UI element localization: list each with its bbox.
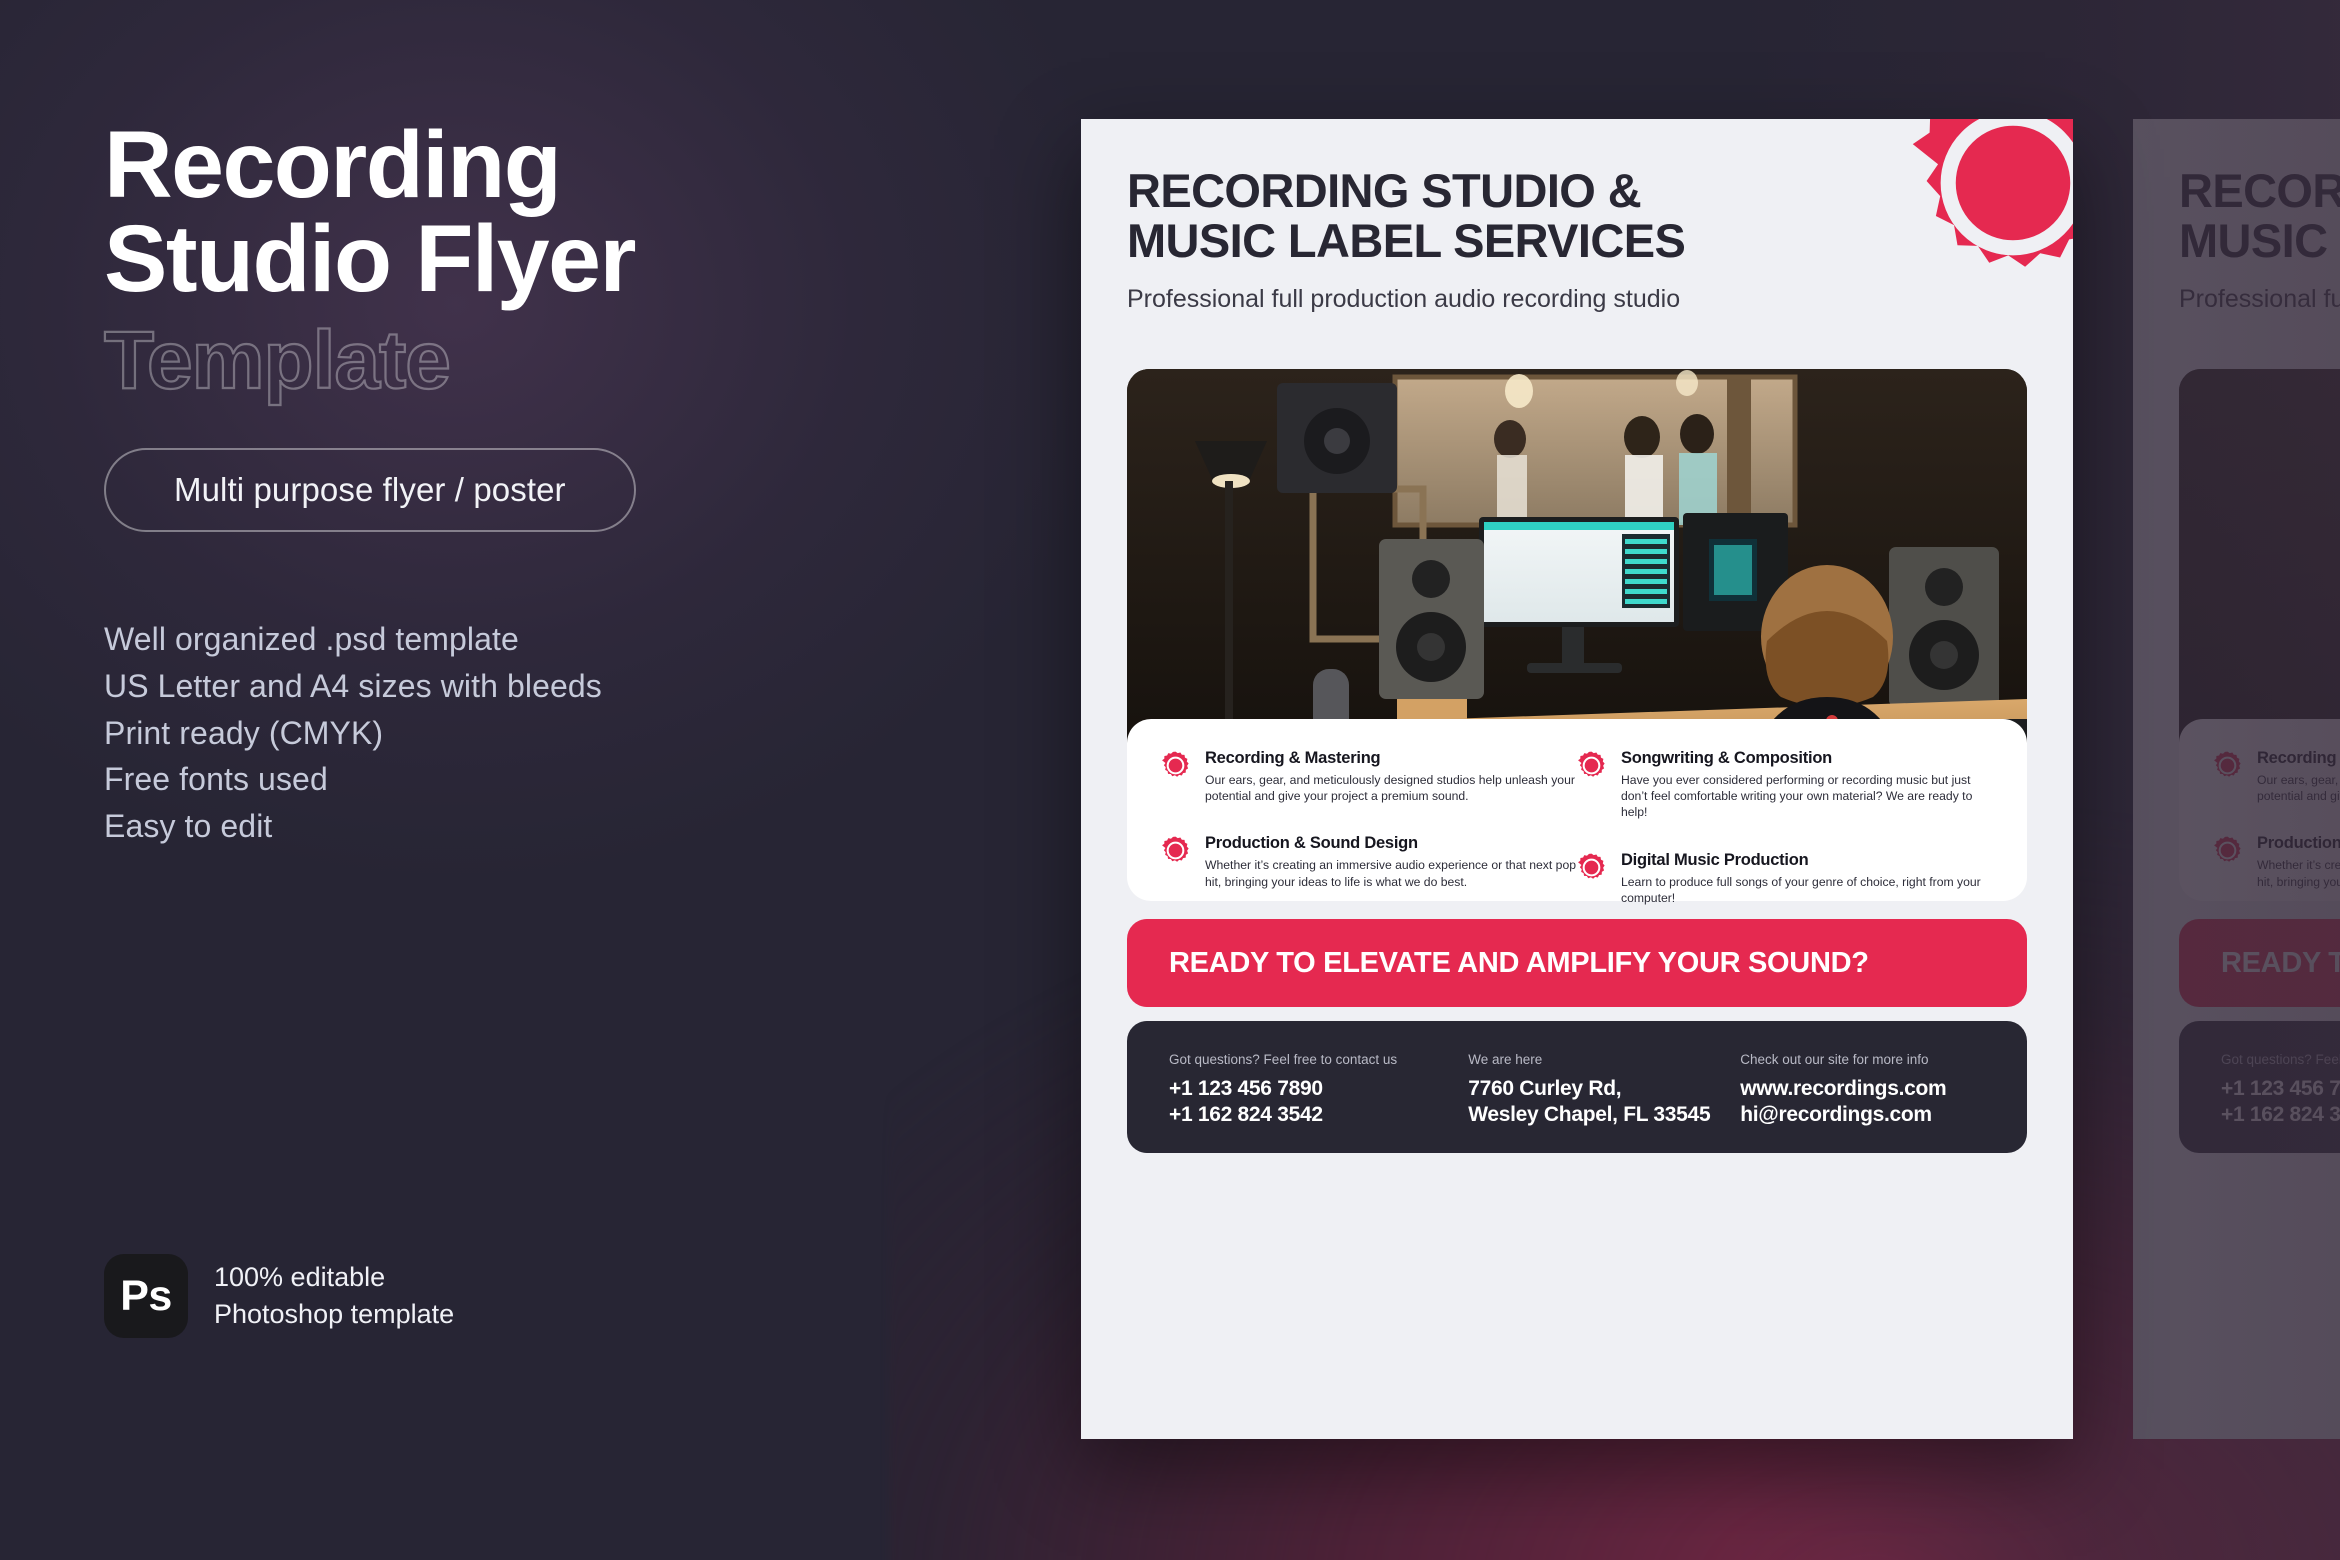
footer-contact-column: Got questions? Feel free to contact us +… — [1169, 1051, 1468, 1153]
service-item: Production & Sound Design Whether it’s c… — [2213, 834, 2340, 889]
list-item: Free fonts used — [104, 756, 764, 803]
footer-location-column: We are here 7760 Curley Rd, Wesley Chape… — [1468, 1051, 1740, 1153]
list-item: Well organized .psd template — [104, 616, 764, 663]
photoshop-badge-line-2: Photoshop template — [214, 1296, 454, 1333]
flyer-preview-secondary: RECORDING STUDIO & MUSIC LABEL SERVICES … — [2133, 119, 2340, 1439]
footer-phone-1: +1 123 456 7890 — [1169, 1076, 1468, 1102]
footer-contact-label: Got questions? Feel free to contact us — [2221, 1051, 2340, 1069]
footer-phone-2: +1 162 824 3542 — [2221, 1102, 2340, 1128]
service-body: Learn to produce full songs of your genr… — [1621, 874, 1993, 906]
services-column-left: Recording & Mastering Our ears, gear, an… — [1161, 749, 1577, 901]
service-text: Production & Sound Design Whether it’s c… — [2257, 834, 2340, 889]
service-item: Recording & Mastering Our ears, gear, an… — [1161, 749, 1577, 804]
photoshop-badge-line-1: 100% editable — [214, 1259, 454, 1296]
service-title: Songwriting & Composition — [1621, 749, 1993, 768]
service-title: Recording & Mastering — [1205, 749, 1577, 768]
flyer-cta-text: READY TO ELEVATE AND AMPLIFY YOUR SOUND? — [2221, 947, 2340, 980]
photoshop-badge-text: 100% editable Photoshop template — [214, 1259, 454, 1334]
service-title: Recording & Mastering — [2257, 749, 2340, 768]
photoshop-icon-label: Ps — [120, 1272, 172, 1321]
seal-icon — [1577, 853, 1606, 882]
list-item: Print ready (CMYK) — [104, 710, 764, 757]
flyer-services-card: Recording & Mastering Our ears, gear, an… — [2179, 719, 2340, 901]
service-body: Whether it’s creating an immersive audio… — [2257, 857, 2340, 889]
footer-contact-values: +1 123 456 7890 +1 162 824 3542 — [2221, 1076, 2340, 1128]
list-item: US Letter and A4 sizes with bleeds — [104, 663, 764, 710]
flyer-subheadline: Professional full production audio recor… — [2179, 285, 2340, 314]
page-title: Recording Studio Flyer — [104, 118, 764, 306]
service-item: Production & Sound Design Whether it’s c… — [1161, 834, 1577, 889]
service-body: Whether it’s creating an immersive audio… — [1205, 857, 1577, 889]
flyer-services-card: Recording & Mastering Our ears, gear, an… — [1127, 719, 2027, 901]
footer-website: www.recordings.com — [1740, 1076, 1985, 1102]
service-text: Songwriting & Composition Have you ever … — [1621, 749, 1993, 821]
flyer-headline-line-2: MUSIC LABEL SERVICES — [2179, 216, 2340, 266]
footer-location-label: We are here — [1468, 1051, 1740, 1069]
list-item: Easy to edit — [104, 803, 764, 850]
page-title-line-1: Recording — [104, 118, 764, 212]
flyer-cta-banner: READY TO ELEVATE AND AMPLIFY YOUR SOUND? — [1127, 919, 2027, 1007]
footer-phone-2: +1 162 824 3542 — [1169, 1102, 1468, 1128]
services-column-left: Recording & Mastering Our ears, gear, an… — [2213, 749, 2340, 901]
footer-site-column: Check out our site for more info www.rec… — [1740, 1051, 1985, 1153]
footer-address-1: 7760 Curley Rd, — [1468, 1076, 1740, 1102]
flyer-subheadline: Professional full production audio recor… — [1127, 285, 2027, 314]
footer-site-label: Check out our site for more info — [1740, 1051, 1985, 1069]
seal-icon — [1161, 836, 1190, 865]
left-info-panel: Recording Studio Flyer Template Multi pu… — [104, 118, 764, 850]
service-text: Recording & Mastering Our ears, gear, an… — [1205, 749, 1577, 804]
service-text: Recording & Mastering Our ears, gear, an… — [2257, 749, 2340, 804]
service-item: Recording & Mastering Our ears, gear, an… — [2213, 749, 2340, 804]
service-item: Digital Music Production Learn to produc… — [1577, 851, 1993, 906]
seal-icon — [1161, 751, 1190, 780]
photoshop-icon: Ps — [104, 1254, 188, 1338]
footer-address-2: Wesley Chapel, FL 33545 — [1468, 1102, 1740, 1128]
service-text: Digital Music Production Learn to produc… — [1621, 851, 1993, 906]
service-text: Production & Sound Design Whether it’s c… — [1205, 834, 1577, 889]
footer-contact-values: +1 123 456 7890 +1 162 824 3542 — [1169, 1076, 1468, 1128]
footer-location-values: 7760 Curley Rd, Wesley Chapel, FL 33545 — [1468, 1076, 1740, 1128]
footer-email: hi@recordings.com — [1740, 1102, 1985, 1128]
service-title: Production & Sound Design — [2257, 834, 2340, 853]
photoshop-badge: Ps 100% editable Photoshop template — [104, 1254, 454, 1338]
service-body: Our ears, gear, and meticulously designe… — [2257, 772, 2340, 804]
footer-contact-column: Got questions? Feel free to contact us +… — [2221, 1051, 2340, 1153]
flyer-cta-text: READY TO ELEVATE AND AMPLIFY YOUR SOUND? — [1169, 947, 1869, 980]
flyer-preview-main: RECORDING STUDIO & MUSIC LABEL SERVICES … — [1081, 119, 2073, 1439]
flyer-footer: Got questions? Feel free to contact us +… — [2179, 1021, 2340, 1153]
seal-icon — [2213, 751, 2242, 780]
seal-icon — [1577, 751, 1606, 780]
service-body: Our ears, gear, and meticulously designe… — [1205, 772, 1577, 804]
feature-list: Well organized .psd template US Letter a… — [104, 616, 764, 850]
footer-contact-label: Got questions? Feel free to contact us — [1169, 1051, 1468, 1069]
page-title-line-2: Studio Flyer — [104, 212, 764, 306]
page-title-outline-word: Template — [104, 320, 764, 402]
service-title: Production & Sound Design — [1205, 834, 1577, 853]
subtitle-pill-label: Multi purpose flyer / poster — [174, 471, 566, 509]
footer-site-values: www.recordings.com hi@recordings.com — [1740, 1076, 1985, 1128]
flyer-headline-line-2: MUSIC LABEL SERVICES — [1127, 216, 2027, 266]
flyer-footer: Got questions? Feel free to contact us +… — [1127, 1021, 2027, 1153]
flyer-headline-line-1: RECORDING STUDIO & — [2179, 166, 2340, 216]
flyer-headline-line-1: RECORDING STUDIO & — [1127, 166, 2027, 216]
footer-phone-1: +1 123 456 7890 — [2221, 1076, 2340, 1102]
flyer-cta-banner: READY TO ELEVATE AND AMPLIFY YOUR SOUND? — [2179, 919, 2340, 1007]
service-item: Songwriting & Composition Have you ever … — [1577, 749, 1993, 821]
services-column-right: Songwriting & Composition Have you ever … — [1577, 749, 1993, 901]
service-title: Digital Music Production — [1621, 851, 1993, 870]
seal-icon — [2213, 836, 2242, 865]
subtitle-pill: Multi purpose flyer / poster — [104, 448, 636, 532]
service-body: Have you ever considered performing or r… — [1621, 772, 1993, 821]
